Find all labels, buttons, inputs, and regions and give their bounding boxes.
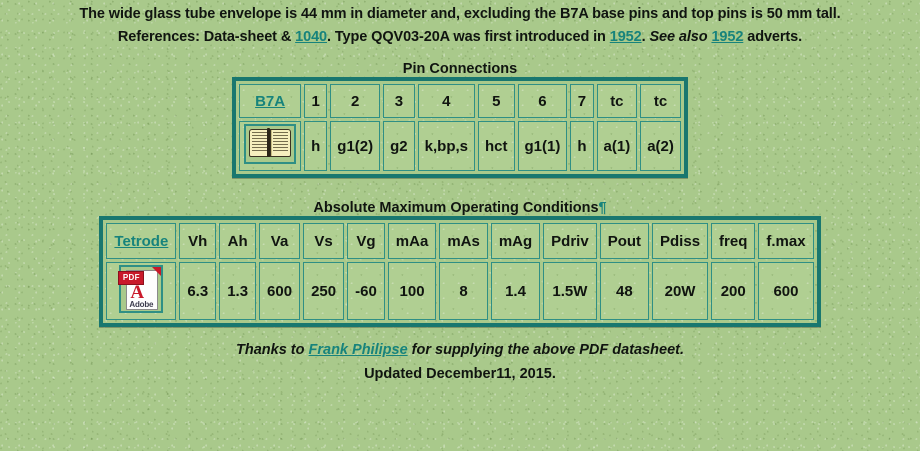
amoc-header-pout: Pout bbox=[600, 223, 649, 259]
pdf-brand-label: Adobe bbox=[121, 300, 161, 309]
pin-header-6: 6 bbox=[518, 84, 568, 118]
pin-header-5: 5 bbox=[478, 84, 515, 118]
pin-value-4: k,bp,s bbox=[418, 121, 475, 171]
amoc-value-mag: 1.4 bbox=[491, 262, 540, 320]
amoc-header-tetrode[interactable]: Tetrode bbox=[106, 223, 176, 259]
pin-datasheet-cell[interactable] bbox=[239, 121, 301, 171]
amoc-header-fmax: f.max bbox=[758, 223, 813, 259]
pdf-corner-fold bbox=[152, 267, 161, 276]
intro-line-1: The wide glass tube envelope is 44 mm in… bbox=[79, 6, 840, 22]
link-1040[interactable]: 1040 bbox=[295, 29, 327, 45]
link-frank-philipse[interactable]: Frank Philipse bbox=[309, 342, 408, 358]
amoc-value-vs: 250 bbox=[303, 262, 344, 320]
link-1952-second[interactable]: 1952 bbox=[711, 29, 743, 45]
amoc-header-maa: mAa bbox=[388, 223, 437, 259]
pin-header-4: 4 bbox=[418, 84, 475, 118]
open-book-icon[interactable] bbox=[244, 124, 296, 164]
footer-thanks-suffix: for supplying the above PDF datasheet. bbox=[408, 342, 684, 358]
amoc-value-row: PDF A Adobe 6.3 1.3 600 250 -60 100 8 1.… bbox=[106, 262, 813, 320]
pilcrow-icon[interactable]: ¶ bbox=[599, 200, 607, 216]
pin-header-row: B7A 1 2 3 4 5 6 7 tc tc bbox=[239, 84, 681, 118]
amoc-header-vg: Vg bbox=[347, 223, 385, 259]
pin-value-tc-1: a(1) bbox=[597, 121, 638, 171]
book-right-page bbox=[270, 129, 291, 157]
amoc-value-pdiss: 20W bbox=[652, 262, 708, 320]
amoc-header-vs: Vs bbox=[303, 223, 344, 259]
pin-table-wrapper: B7A 1 2 3 4 5 6 7 tc tc h bbox=[0, 77, 920, 178]
amoc-title: Absolute Maximum Operating Conditions¶ bbox=[0, 200, 920, 216]
pin-header-1: 1 bbox=[304, 84, 327, 118]
footer-thanks-line: Thanks to Frank Philipse for supplying t… bbox=[0, 342, 920, 358]
footer-updated-line: Updated December11, 2015. bbox=[0, 366, 920, 382]
intro-type-text: . Type QQV03-20A was first introduced in bbox=[327, 29, 610, 45]
pin-value-row: h g1(2) g2 k,bp,s hct g1(1) h a(1) a(2) bbox=[239, 121, 681, 171]
intro-adverts-text: adverts. bbox=[743, 29, 802, 45]
amoc-header-pdiss: Pdiss bbox=[652, 223, 708, 259]
page-root: The wide glass tube envelope is 44 mm in… bbox=[0, 0, 920, 451]
link-b7a[interactable]: B7A bbox=[255, 93, 285, 110]
link-1952-first[interactable]: 1952 bbox=[610, 29, 642, 45]
intro-line-2: References: Data-sheet & 1040. Type QQV0… bbox=[0, 26, 920, 48]
pin-value-tc-2: a(2) bbox=[640, 121, 681, 171]
footer-thanks-prefix: Thanks to bbox=[236, 342, 309, 358]
amoc-value-pdriv: 1.5W bbox=[543, 262, 597, 320]
pin-header-3: 3 bbox=[383, 84, 415, 118]
pin-header-7: 7 bbox=[570, 84, 593, 118]
amoc-header-va: Va bbox=[259, 223, 300, 259]
intro-references-text: References: Data-sheet & bbox=[118, 29, 295, 45]
pin-header-tc-2: tc bbox=[640, 84, 681, 118]
footer: Thanks to Frank Philipse for supplying t… bbox=[0, 342, 920, 382]
amoc-header-mas: mAs bbox=[439, 223, 488, 259]
amoc-value-va: 600 bbox=[259, 262, 300, 320]
pin-header-base[interactable]: B7A bbox=[239, 84, 301, 118]
amoc-value-vh: 6.3 bbox=[179, 262, 216, 320]
pin-value-2: g1(2) bbox=[330, 121, 380, 171]
pin-value-5: hct bbox=[478, 121, 515, 171]
pin-value-3: g2 bbox=[383, 121, 415, 171]
amoc-header-row: Tetrode Vh Ah Va Vs Vg mAa mAs mAg Pdriv… bbox=[106, 223, 813, 259]
pin-value-7: h bbox=[570, 121, 593, 171]
see-also-label: See also bbox=[649, 29, 707, 45]
amoc-table-wrapper: Tetrode Vh Ah Va Vs Vg mAa mAs mAg Pdriv… bbox=[0, 216, 920, 327]
amoc-value-mas: 8 bbox=[439, 262, 488, 320]
pin-header-2: 2 bbox=[330, 84, 380, 118]
amoc-table: Tetrode Vh Ah Va Vs Vg mAa mAs mAg Pdriv… bbox=[99, 216, 820, 327]
amoc-value-vg: -60 bbox=[347, 262, 385, 320]
amoc-value-freq: 200 bbox=[711, 262, 755, 320]
pin-connections-table: B7A 1 2 3 4 5 6 7 tc tc h bbox=[232, 77, 688, 178]
pin-header-tc-1: tc bbox=[597, 84, 638, 118]
book-spine bbox=[267, 128, 270, 157]
link-tetrode[interactable]: Tetrode bbox=[114, 233, 168, 250]
pin-connections-title: Pin Connections bbox=[0, 61, 920, 77]
intro-paragraph: The wide glass tube envelope is 44 mm in… bbox=[0, 0, 920, 48]
amoc-value-ah: 1.3 bbox=[219, 262, 256, 320]
amoc-value-pout: 48 bbox=[600, 262, 649, 320]
amoc-title-text: Absolute Maximum Operating Conditions bbox=[313, 200, 598, 216]
amoc-header-mag: mAg bbox=[491, 223, 540, 259]
amoc-header-freq: freq bbox=[711, 223, 755, 259]
amoc-pdf-cell[interactable]: PDF A Adobe bbox=[106, 262, 176, 320]
amoc-value-maa: 100 bbox=[388, 262, 437, 320]
adobe-pdf-icon[interactable]: PDF A Adobe bbox=[119, 265, 163, 313]
amoc-header-pdriv: Pdriv bbox=[543, 223, 597, 259]
amoc-header-ah: Ah bbox=[219, 223, 256, 259]
pin-value-1: h bbox=[304, 121, 327, 171]
amoc-header-vh: Vh bbox=[179, 223, 216, 259]
pin-value-6: g1(1) bbox=[518, 121, 568, 171]
amoc-value-fmax: 600 bbox=[758, 262, 813, 320]
